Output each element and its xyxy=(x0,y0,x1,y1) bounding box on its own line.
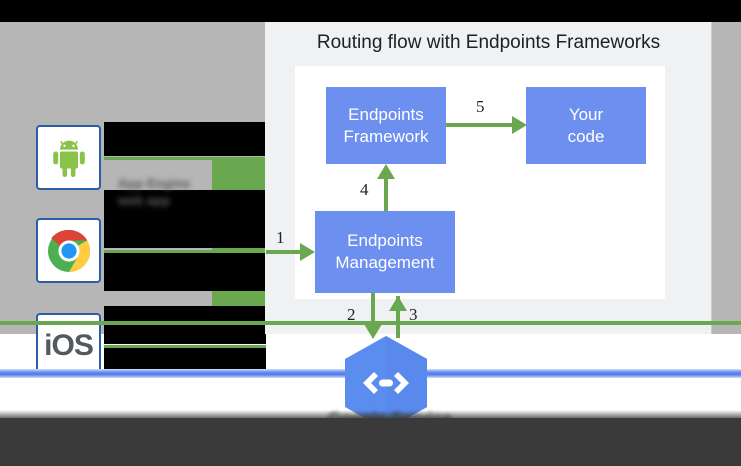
arrow-5-label: 5 xyxy=(476,97,485,117)
box-endpoints-management[interactable]: Endpoints Management xyxy=(315,211,455,293)
panel-title: Routing flow with Endpoints Frameworks xyxy=(265,32,712,54)
android-icon xyxy=(49,137,89,179)
arrow-5-head xyxy=(512,116,527,134)
obscured-caption-line-1: App Engine xyxy=(118,176,190,191)
arrow-4-head xyxy=(377,164,395,179)
box-your-code[interactable]: Your code xyxy=(526,87,646,164)
top-black-band xyxy=(0,0,741,22)
obscured-caption-line-2: web app xyxy=(118,193,170,208)
arrow-1-line xyxy=(266,250,300,254)
box-endpoints-management-label: Endpoints Management xyxy=(335,230,434,274)
page-background-right xyxy=(712,22,741,334)
client-card-chrome[interactable] xyxy=(36,218,101,283)
screenshot-canvas: iOS App Engine web app Routing flow with… xyxy=(0,0,741,466)
redaction-band-4 xyxy=(104,306,266,344)
bottom-dark-band xyxy=(0,418,741,466)
arrow-4-label: 4 xyxy=(360,180,369,200)
arrow-3-head xyxy=(389,296,407,311)
arrow-5-line xyxy=(446,123,512,127)
connector-line-android xyxy=(104,157,266,160)
redaction-band-3 xyxy=(104,253,266,291)
arrow-1-label: 1 xyxy=(276,228,285,248)
green-horizontal-rule xyxy=(0,321,741,325)
arrow-4-line xyxy=(384,178,388,211)
redaction-band-1 xyxy=(104,122,266,156)
box-your-code-label: Your code xyxy=(568,104,605,148)
box-endpoints-framework[interactable]: Endpoints Framework xyxy=(326,87,446,164)
arrow-1-head xyxy=(300,243,315,261)
box-endpoints-framework-label: Endpoints Framework xyxy=(343,104,428,148)
chrome-icon xyxy=(47,229,91,273)
ios-label: iOS xyxy=(44,329,93,363)
client-card-android[interactable] xyxy=(36,125,101,190)
